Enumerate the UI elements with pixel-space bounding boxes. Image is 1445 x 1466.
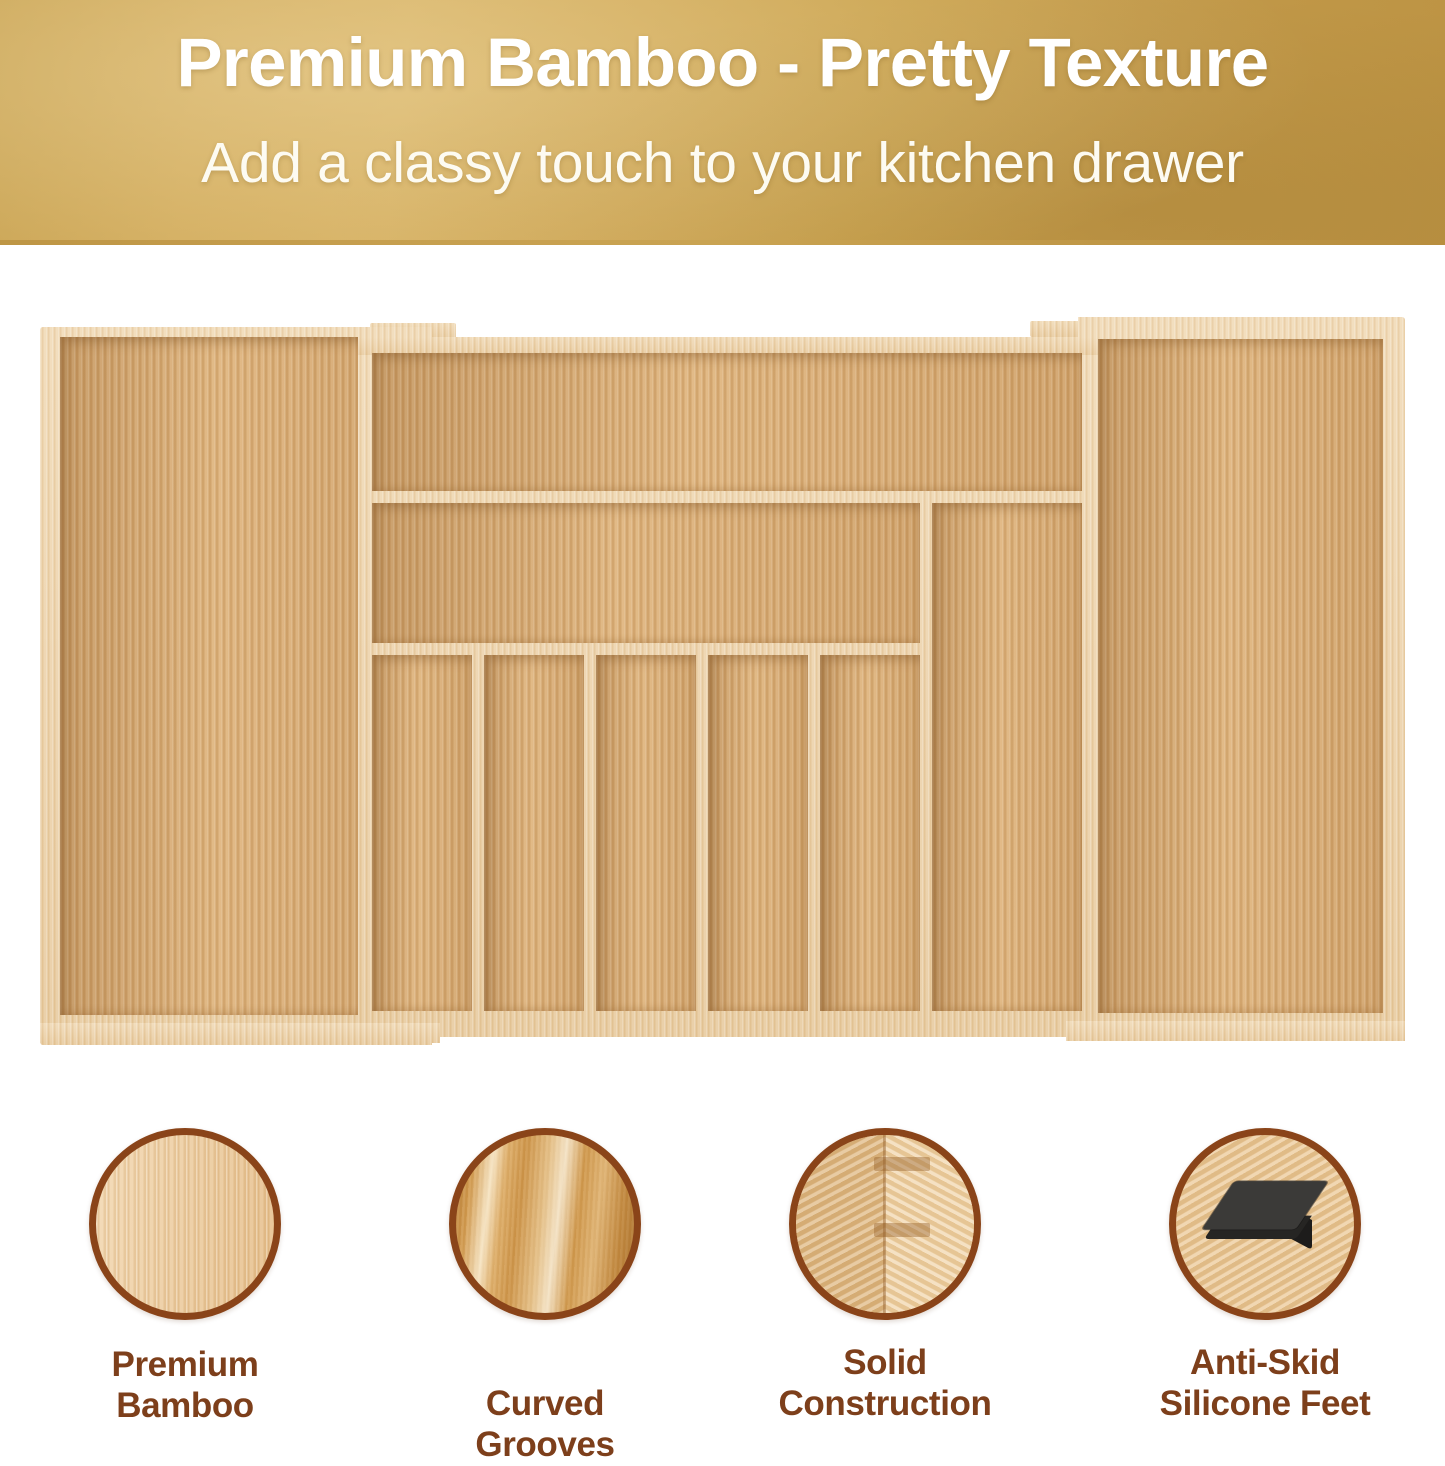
feature-label-line-2: Construction	[755, 1383, 1015, 1424]
feature-label-line-1: Solid	[755, 1342, 1015, 1383]
feature-label-line-1: Anti-Skid	[1135, 1342, 1395, 1383]
silicone-pad	[1206, 1174, 1324, 1266]
feature-item-solid-construction: Solid Construction	[755, 1100, 1015, 1425]
right-wing-bottom-lip	[1066, 1021, 1405, 1041]
feature-item-anti-skid-feet: Anti-Skid Silicone Feet	[1135, 1100, 1395, 1425]
feature-label-line-2: Bamboo	[55, 1385, 315, 1426]
feature-label-line-1: Premium	[55, 1344, 315, 1385]
silicone-foot-icon	[1169, 1128, 1361, 1320]
utensil-slot-2	[484, 655, 584, 1011]
feature-label-line-1: Curved Grooves	[415, 1383, 675, 1466]
utensil-slot-4	[708, 655, 808, 1011]
feature-label-curved-grooves: Curved Grooves	[415, 1383, 675, 1466]
bamboo-swatch-icon	[89, 1128, 281, 1320]
feature-label-premium-bamboo: Premium Bamboo	[55, 1344, 315, 1427]
joint-notch-top	[874, 1157, 930, 1171]
banner-subtitle: Add a classy touch to your kitchen drawe…	[0, 132, 1445, 195]
feature-highlights: Premium Bamboo Curved Grooves Solid Cons…	[0, 1100, 1445, 1409]
left-wing-bottom-lip	[40, 1023, 440, 1043]
compartment-middle-wide	[372, 503, 920, 643]
joint-notch-bottom	[874, 1223, 930, 1237]
compartment-right-wing	[1098, 339, 1383, 1013]
feature-item-premium-bamboo: Premium Bamboo	[55, 1100, 315, 1427]
banner-title: Premium Bamboo - Pretty Texture	[0, 26, 1445, 101]
utensil-slot-5	[820, 655, 920, 1011]
utensil-slot-3	[596, 655, 696, 1011]
compartment-top-wide	[372, 353, 1082, 491]
feature-item-curved-grooves: Curved Grooves	[415, 1100, 675, 1466]
feature-label-solid-construction: Solid Construction	[755, 1342, 1015, 1425]
feature-label-anti-skid-feet: Anti-Skid Silicone Feet	[1135, 1342, 1395, 1425]
compartment-tall-right	[932, 503, 1082, 1011]
joint-face-left	[796, 1135, 885, 1313]
header-banner: Premium Bamboo - Pretty Texture Add a cl…	[0, 0, 1445, 245]
bamboo-drawer-organizer	[40, 317, 1405, 1047]
corner-joint-icon	[789, 1128, 981, 1320]
feature-label-line-2: Silicone Feet	[1135, 1383, 1395, 1424]
utensil-slot-1	[372, 655, 472, 1011]
product-hero	[0, 245, 1445, 1100]
curved-groove-icon	[449, 1128, 641, 1320]
